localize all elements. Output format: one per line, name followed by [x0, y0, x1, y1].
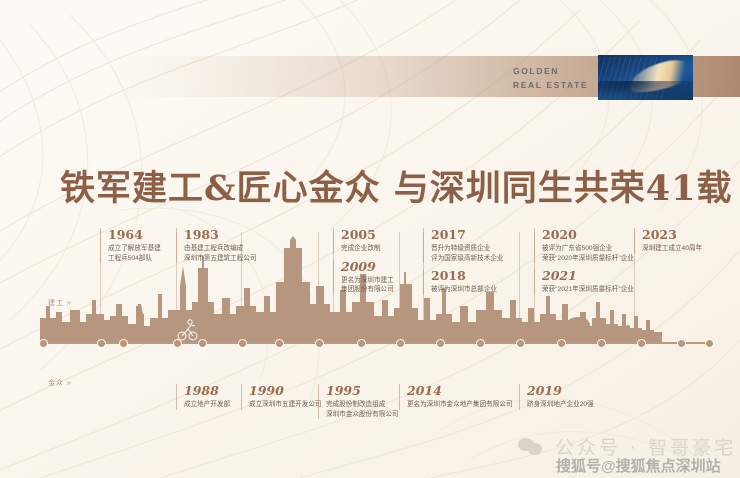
event-year: 2009: [341, 260, 394, 274]
sohu-watermark: 搜狐号@搜狐焦点深圳站: [556, 455, 721, 476]
event-description-line: 晋升为特级资质企业: [431, 244, 504, 254]
event-year: 2017: [431, 228, 504, 242]
timeline-tick: [519, 232, 520, 342]
timeline-dot[interactable]: [557, 339, 566, 348]
event-year: 1990: [249, 384, 322, 398]
timeline-event-2021[interactable]: 2021荣获"2021年深圳质量标杆"企业: [534, 269, 634, 295]
event-year: 2020: [542, 228, 634, 242]
timeline-event-2020[interactable]: 2020被评为广东省500强企业荣获"2020年深圳质量标杆"企业: [534, 228, 634, 263]
timeline-dot[interactable]: [436, 339, 445, 348]
event-description-line: 成立了解放军基建: [108, 244, 161, 254]
timeline-dot[interactable]: [516, 339, 525, 348]
timeline-dot[interactable]: [315, 339, 324, 348]
brand-name-line1: GOLDEN: [513, 64, 559, 78]
event-year: 2005: [341, 228, 381, 242]
event-year: 2018: [431, 269, 497, 283]
timeline-dot[interactable]: [705, 339, 714, 348]
track-label-bottom: 金众 »: [48, 378, 72, 388]
timeline-event-2005[interactable]: 2005完成企业改制: [333, 228, 381, 254]
timeline-event-2018[interactable]: 2018被评为深圳市总部企业: [423, 269, 497, 295]
event-description-line: 完成股份制改造组成: [326, 400, 399, 410]
event-description-line: 由基建工程兵改编成: [184, 244, 257, 254]
brand-logo: GOLDEN REAL ESTATE: [513, 62, 593, 94]
timeline-event-2019[interactable]: 2019跻身深圳地产企业20强: [519, 384, 594, 410]
event-year: 2019: [527, 384, 594, 398]
timeline-dot[interactable]: [198, 339, 207, 348]
event-year: 2021: [542, 269, 634, 283]
timeline-dot[interactable]: [173, 339, 182, 348]
timeline-dot[interactable]: [357, 339, 366, 348]
timeline-dot[interactable]: [637, 339, 646, 348]
wechat-icon: [518, 437, 546, 457]
brand-name-line2: REAL ESTATE: [513, 78, 588, 92]
timeline-event-2009[interactable]: 2009更名为深圳市建工集团股份有限公司: [333, 260, 394, 295]
timeline-dot[interactable]: [597, 339, 606, 348]
timeline-event-1990[interactable]: 1990成立深圳市五建开发公司: [241, 384, 322, 410]
timeline-event-1964[interactable]: 1964成立了解放军基建工程兵504部队: [100, 228, 161, 263]
event-description-line: 评为国家级高新技术企业: [431, 254, 504, 264]
ocean-wave-image: [598, 55, 693, 100]
event-year: 1964: [108, 228, 161, 242]
timeline-dot[interactable]: [97, 339, 106, 348]
event-description-line: 集团股份有限公司: [341, 285, 394, 295]
timeline-tick: [318, 232, 319, 342]
timeline: 建工 » 金众 » 1964成立了解放军基建工程兵504部队1983由基建工程兵…: [0, 226, 740, 416]
timeline-event-1995[interactable]: 1995完成股份制改造组成深圳市金众股份有限公司: [318, 384, 399, 419]
timeline-dot[interactable]: [119, 339, 128, 348]
event-description-line: 深圳建工成立40周年: [642, 244, 702, 254]
event-description-line: 成立地产开发部: [184, 400, 230, 410]
event-description-line: 深圳市第五建筑工程公司: [184, 254, 257, 264]
timeline-tick: [399, 232, 400, 342]
timeline-axis: [40, 342, 710, 344]
event-description-line: 深圳市金众股份有限公司: [326, 410, 399, 420]
event-description-line: 跻身深圳地产企业20强: [527, 400, 594, 410]
event-year: 1988: [184, 384, 230, 398]
event-description-line: 完成企业改制: [341, 244, 381, 254]
event-description-line: 成立深圳市五建开发公司: [249, 400, 322, 410]
timeline-dot[interactable]: [275, 339, 284, 348]
timeline-event-1988[interactable]: 1988成立地产开发部: [176, 384, 230, 410]
timeline-dot[interactable]: [238, 339, 247, 348]
event-year: 2023: [642, 228, 702, 242]
event-description-line: 更名为深圳市金众地产集团有限公司: [407, 400, 513, 410]
timeline-event-2023[interactable]: 2023深圳建工成立40周年: [634, 228, 702, 254]
timeline-dot[interactable]: [476, 339, 485, 348]
event-description-line: 被评为深圳市总部企业: [431, 285, 497, 295]
page-title: 铁军建工&匠心金众 与深圳同生共荣41载: [60, 160, 733, 211]
event-description-line: 更名为深圳市建工: [341, 276, 394, 286]
event-description-line: 被评为广东省500强企业: [542, 244, 634, 254]
wave-shadow: [598, 81, 693, 100]
event-year: 1995: [326, 384, 399, 398]
timeline-dot[interactable]: [396, 339, 405, 348]
timeline-dot[interactable]: [39, 339, 48, 348]
event-description-line: 工程兵504部队: [108, 254, 161, 264]
event-year: 2014: [407, 384, 513, 398]
event-year: 1983: [184, 228, 257, 242]
timeline-event-2017[interactable]: 2017晋升为特级资质企业评为国家级高新技术企业: [423, 228, 504, 263]
timeline-dot[interactable]: [677, 339, 686, 348]
event-description-line: 荣获"2021年深圳质量标杆"企业: [542, 285, 634, 295]
track-label-top: 建工 »: [48, 298, 72, 308]
timeline-event-1983[interactable]: 1983由基建工程兵改编成深圳市第五建筑工程公司: [176, 228, 257, 263]
timeline-event-2014[interactable]: 2014更名为深圳市金众地产集团有限公司: [399, 384, 513, 410]
event-description-line: 荣获"2020年深圳质量标杆"企业: [542, 254, 634, 264]
